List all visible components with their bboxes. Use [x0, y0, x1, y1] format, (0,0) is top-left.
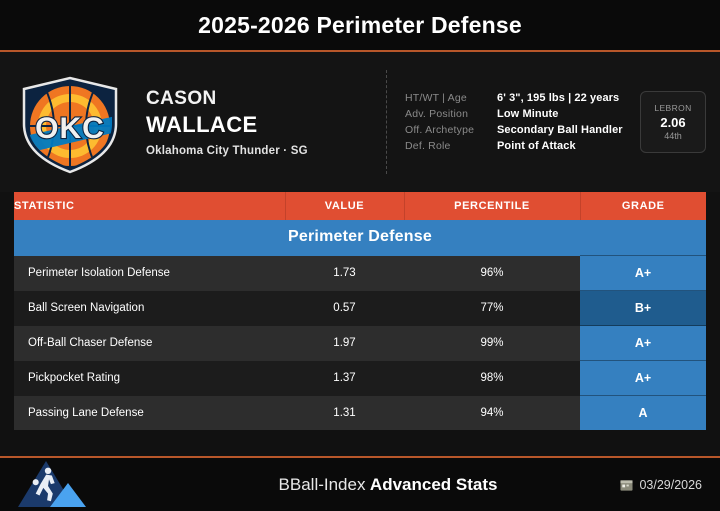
attribute-label: Off. Archetype: [405, 124, 497, 136]
attribute-value: Point of Attack: [497, 140, 576, 152]
cell-percentile: 99%: [404, 326, 580, 361]
cell-grade: A: [580, 396, 706, 431]
cell-value: 1.37: [285, 361, 404, 396]
header-divider: [386, 70, 387, 174]
cell-grade: A+: [580, 256, 706, 291]
attribute-row: Def. Role Point of Attack: [405, 140, 630, 152]
cell-percentile: 77%: [404, 291, 580, 326]
cell-value: 1.73: [285, 256, 404, 291]
column-header-value[interactable]: VALUE: [285, 192, 404, 220]
lebron-badge: LEBRON 2.06 44th: [640, 91, 706, 153]
stat-table-wrapper: Perimeter Defense STATISTIC VALUE PERCEN…: [0, 192, 720, 430]
column-header-percentile[interactable]: PERCENTILE: [404, 192, 580, 220]
lebron-rank: 44th: [664, 131, 682, 141]
footer-date-group: 03/29/2026: [620, 478, 702, 492]
table-body: Perimeter Isolation Defense 1.73 96% A+ …: [14, 256, 706, 431]
cell-statistic: Perimeter Isolation Defense: [14, 256, 285, 291]
cell-percentile: 94%: [404, 396, 580, 431]
player-first-name: CASON: [146, 87, 384, 111]
player-attributes: HT/WT | Age 6' 3", 195 lbs | 22 years Ad…: [405, 88, 630, 156]
table-title-row: Perimeter Defense: [14, 220, 706, 256]
cell-percentile: 96%: [404, 256, 580, 291]
attribute-label: Adv. Position: [405, 108, 497, 120]
table-row: Passing Lane Defense 1.31 94% A: [14, 396, 706, 431]
attribute-row: Off. Archetype Secondary Ball Handler: [405, 124, 630, 136]
cell-statistic: Passing Lane Defense: [14, 396, 285, 431]
player-stat-card: 2025-2026 Perimeter Defense: [0, 0, 720, 511]
cell-value: 1.31: [285, 396, 404, 431]
table-column-headers: STATISTIC VALUE PERCENTILE GRADE: [14, 192, 706, 220]
player-header: OKC CASON WALLACE Oklahoma City Thunder …: [0, 52, 720, 192]
player-team-position: Oklahoma City Thunder · SG: [146, 145, 384, 157]
cell-value: 1.97: [285, 326, 404, 361]
player-name-block: CASON WALLACE Oklahoma City Thunder · SG: [134, 87, 384, 157]
cell-value: 0.57: [285, 291, 404, 326]
column-header-statistic[interactable]: STATISTIC: [14, 192, 285, 220]
okc-thunder-logo-icon: OKC: [6, 66, 134, 178]
table-row: Perimeter Isolation Defense 1.73 96% A+: [14, 256, 706, 291]
footer-date: 03/29/2026: [639, 478, 702, 492]
brand-name: BBall-Index: [279, 475, 366, 494]
brand-tagline: Advanced Stats: [370, 475, 498, 494]
cell-grade: A+: [580, 361, 706, 396]
perimeter-defense-table: Perimeter Defense STATISTIC VALUE PERCEN…: [14, 192, 706, 430]
calendar-icon: [620, 479, 633, 491]
attribute-label: Def. Role: [405, 140, 497, 152]
cell-statistic: Pickpocket Rating: [14, 361, 285, 396]
player-last-name: WALLACE: [146, 111, 384, 139]
page-title: 2025-2026 Perimeter Defense: [198, 12, 522, 39]
cell-grade: B+: [580, 291, 706, 326]
svg-text:OKC: OKC: [35, 112, 105, 145]
column-header-grade[interactable]: GRADE: [580, 192, 706, 220]
cell-grade: A+: [580, 326, 706, 361]
attribute-value: 6' 3", 195 lbs | 22 years: [497, 92, 619, 104]
bball-index-logo-icon: [16, 459, 96, 511]
attribute-label: HT/WT | Age: [405, 92, 497, 104]
table-title: Perimeter Defense: [14, 220, 706, 256]
lebron-value: 2.06: [660, 115, 685, 130]
attribute-value: Secondary Ball Handler: [497, 124, 623, 136]
table-row: Pickpocket Rating 1.37 98% A+: [14, 361, 706, 396]
attribute-row: Adv. Position Low Minute: [405, 108, 630, 120]
lebron-label: LEBRON: [654, 103, 691, 113]
attribute-row: HT/WT | Age 6' 3", 195 lbs | 22 years: [405, 92, 630, 104]
table-row: Ball Screen Navigation 0.57 77% B+: [14, 291, 706, 326]
card-footer: BBall-Index Advanced Stats 03/29/2026: [0, 456, 720, 511]
cell-percentile: 98%: [404, 361, 580, 396]
cell-statistic: Ball Screen Navigation: [14, 291, 285, 326]
cell-statistic: Off-Ball Chaser Defense: [14, 326, 285, 361]
card-title-bar: 2025-2026 Perimeter Defense: [0, 0, 720, 52]
attribute-value: Low Minute: [497, 108, 559, 120]
table-row: Off-Ball Chaser Defense 1.97 99% A+: [14, 326, 706, 361]
